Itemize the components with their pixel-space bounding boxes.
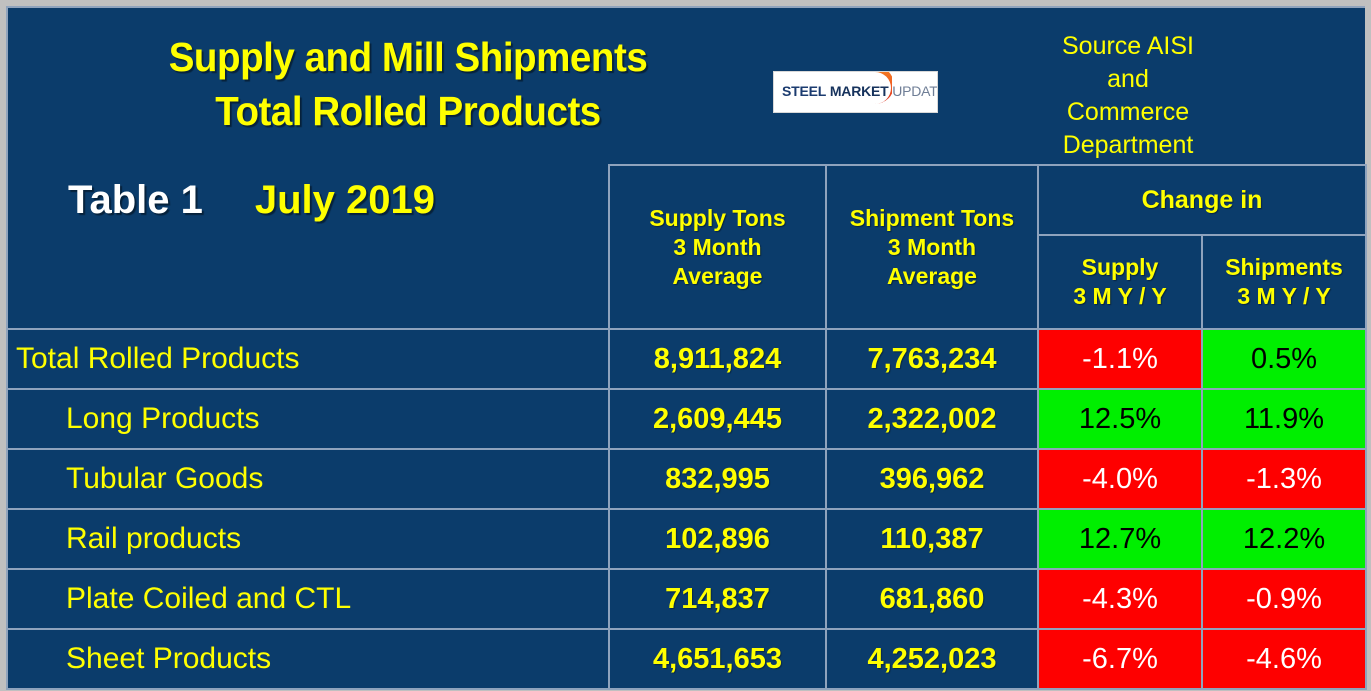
- header-change-in-group: Change in: [1038, 165, 1366, 235]
- header-spacer-cell: [7, 165, 609, 329]
- cell-change-shipments: 0.5%: [1202, 329, 1366, 389]
- row-label: Rail products: [7, 509, 609, 569]
- table-row: Tubular Goods832,995396,962-4.0%-1.3%: [7, 449, 1366, 509]
- cell-shipment-tons: 110,387: [826, 509, 1038, 569]
- table-row: Rail products102,896110,38712.7%12.2%: [7, 509, 1366, 569]
- logo-word-market: MARKET: [830, 83, 889, 99]
- cell-supply-tons: 102,896: [609, 509, 826, 569]
- cell-supply-tons: 2,609,445: [609, 389, 826, 449]
- cell-shipment-tons: 2,322,002: [826, 389, 1038, 449]
- logo-word-steel: STEEL: [782, 83, 826, 99]
- row-label: Tubular Goods: [7, 449, 609, 509]
- cell-supply-tons: 832,995: [609, 449, 826, 509]
- table-row: Total Rolled Products8,911,8247,763,234-…: [7, 329, 1366, 389]
- source-line-1: Source AISI: [1028, 30, 1228, 63]
- header-change-shipments: Shipments 3 M Y / Y: [1202, 235, 1366, 329]
- cell-change-shipments: -4.6%: [1202, 629, 1366, 689]
- row-label: Sheet Products: [7, 629, 609, 689]
- cell-supply-tons: 4,651,653: [609, 629, 826, 689]
- row-label: Plate Coiled and CTL: [7, 569, 609, 629]
- header-shipment-tons: Shipment Tons 3 Month Average: [826, 165, 1038, 329]
- slide-root: Supply and Mill Shipments Total Rolled P…: [0, 0, 1371, 691]
- title-line-2: Total Rolled Products: [88, 84, 727, 138]
- source-line-2: and: [1028, 63, 1228, 96]
- cell-change-supply: -6.7%: [1038, 629, 1202, 689]
- row-label: Long Products: [7, 389, 609, 449]
- cell-supply-tons: 8,911,824: [609, 329, 826, 389]
- header-change-supply-l2: 3 M Y / Y: [1039, 282, 1201, 311]
- steel-market-update-logo: STEEL MARKET UPDATE: [773, 71, 938, 113]
- cell-shipment-tons: 396,962: [826, 449, 1038, 509]
- header-shipment-tons-l3: Average: [827, 262, 1037, 291]
- table-row: Sheet Products4,651,6534,252,023-6.7%-4.…: [7, 629, 1366, 689]
- cell-change-supply: -4.3%: [1038, 569, 1202, 629]
- row-label: Total Rolled Products: [7, 329, 609, 389]
- logo-word-update: UPDATE: [892, 83, 938, 99]
- header-shipment-tons-l1: Shipment Tons: [827, 204, 1037, 233]
- header-change-shipments-l1: Shipments: [1203, 253, 1365, 282]
- header-supply-tons-l3: Average: [610, 262, 825, 291]
- logo-wordmark: STEEL MARKET UPDATE: [782, 83, 938, 99]
- cell-change-supply: 12.7%: [1038, 509, 1202, 569]
- cell-change-shipments: -1.3%: [1202, 449, 1366, 509]
- cell-change-shipments: 12.2%: [1202, 509, 1366, 569]
- header-supply-tons: Supply Tons 3 Month Average: [609, 165, 826, 329]
- cell-supply-tons: 714,837: [609, 569, 826, 629]
- cell-shipment-tons: 4,252,023: [826, 629, 1038, 689]
- data-table: Supply Tons 3 Month Average Shipment Ton…: [6, 164, 1367, 690]
- header-shipment-tons-l2: 3 Month: [827, 233, 1037, 262]
- table-row: Plate Coiled and CTL714,837681,860-4.3%-…: [7, 569, 1366, 629]
- header-supply-tons-l1: Supply Tons: [610, 204, 825, 233]
- cell-change-shipments: 11.9%: [1202, 389, 1366, 449]
- table-row: Long Products2,609,4452,322,00212.5%11.9…: [7, 389, 1366, 449]
- header-change-supply-l1: Supply: [1039, 253, 1201, 282]
- title-line-1: Supply and Mill Shipments: [88, 30, 727, 84]
- source-line-3: Commerce: [1028, 96, 1228, 129]
- header-change-supply: Supply 3 M Y / Y: [1038, 235, 1202, 329]
- source-line-4: Department: [1028, 129, 1228, 162]
- cell-change-shipments: -0.9%: [1202, 569, 1366, 629]
- cell-shipment-tons: 681,860: [826, 569, 1038, 629]
- table-header-row-1: Supply Tons 3 Month Average Shipment Ton…: [7, 165, 1366, 235]
- cell-change-supply: -4.0%: [1038, 449, 1202, 509]
- cell-shipment-tons: 7,763,234: [826, 329, 1038, 389]
- header-change-shipments-l2: 3 M Y / Y: [1203, 282, 1365, 311]
- page-title: Supply and Mill Shipments Total Rolled P…: [88, 30, 727, 138]
- cell-change-supply: -1.1%: [1038, 329, 1202, 389]
- source-note: Source AISI and Commerce Department: [1028, 30, 1228, 162]
- header-supply-tons-l2: 3 Month: [610, 233, 825, 262]
- cell-change-supply: 12.5%: [1038, 389, 1202, 449]
